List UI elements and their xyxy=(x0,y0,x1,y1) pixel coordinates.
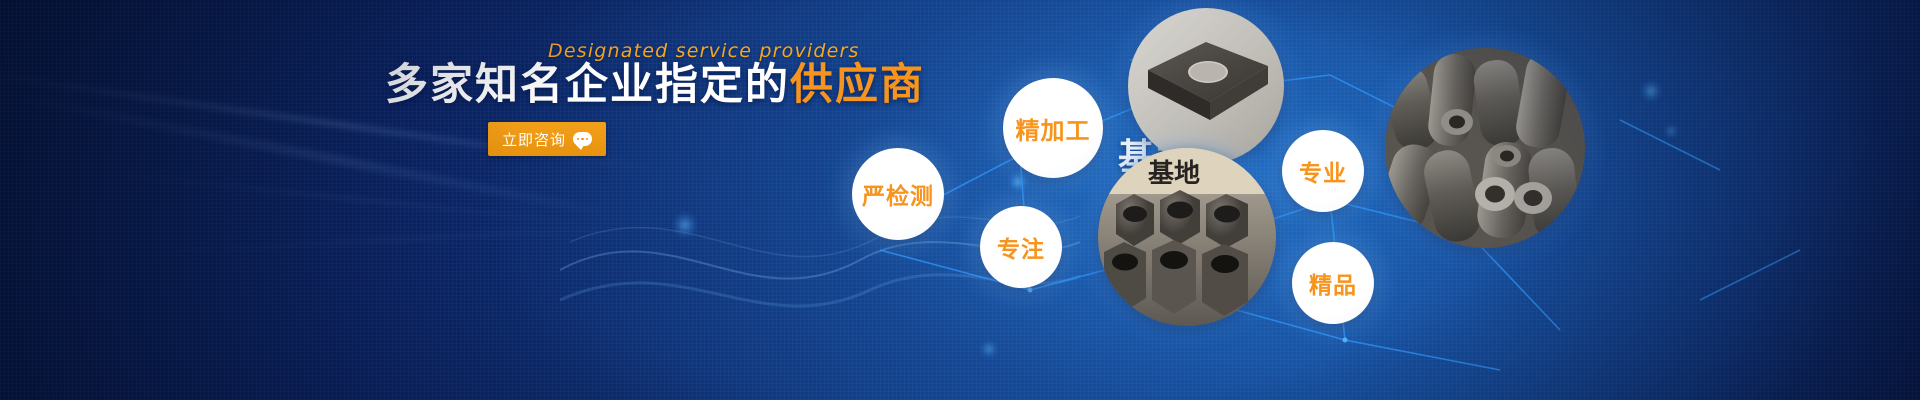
headline-orange-part: 供应商 xyxy=(790,61,925,109)
glow-dot xyxy=(980,340,998,358)
badge-premium-quality[interactable]: 精品 xyxy=(1292,242,1374,324)
badge-professional[interactable]: 专业 xyxy=(1282,130,1364,212)
glow-dot xyxy=(1008,172,1028,192)
glow-dot xyxy=(1640,80,1662,102)
product-photo-steel-plate[interactable] xyxy=(1128,8,1284,164)
product-photo-steel-pipes[interactable] xyxy=(1385,48,1585,248)
english-tagline: Designated service providers xyxy=(548,40,860,62)
headline-white-part: 多家知名企业指定的 xyxy=(385,61,790,109)
badge-strict-inspection[interactable]: 严检测 xyxy=(852,148,944,240)
product-photo-hex-nuts[interactable]: 基地 xyxy=(1098,148,1276,326)
badge-focus[interactable]: 专注 xyxy=(980,206,1062,288)
glow-dot xyxy=(1664,124,1678,138)
chat-bubble-icon xyxy=(573,132,592,146)
consult-now-button[interactable]: 立即咨询 xyxy=(488,122,606,156)
headline-block: Designated service providers 多家知名企业指定的供应… xyxy=(0,0,860,400)
consult-now-label: 立即咨询 xyxy=(502,129,566,150)
svg-text:基地: 基地 xyxy=(1148,159,1200,189)
badge-fine-machining[interactable]: 精加工 xyxy=(1003,78,1103,178)
page-title: 多家知名企业指定的供应商 xyxy=(385,62,925,109)
promotional-banner: Designated service providers 多家知名企业指定的供应… xyxy=(0,0,1920,400)
